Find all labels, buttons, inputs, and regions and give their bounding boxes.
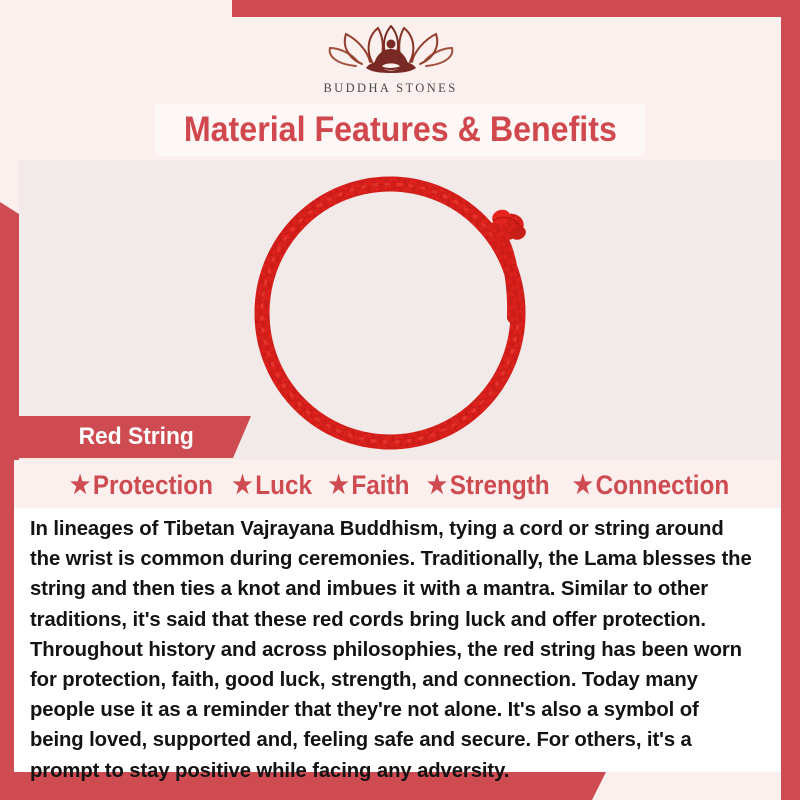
benefit-item-connection: ★ Connection: [573, 470, 730, 501]
star-icon: ★: [233, 473, 253, 498]
star-icon: ★: [427, 473, 447, 498]
lotus-meditation-icon: [316, 22, 466, 78]
product-name-label: Red String: [23, 423, 193, 451]
benefit-label: Faith: [351, 470, 409, 501]
brand-logo: BUDDHA STONES: [0, 17, 781, 96]
benefit-label: Strength: [450, 470, 550, 501]
page-title-band: Material Features & Benefits: [155, 104, 645, 156]
benefit-item-faith: ★ Faith: [328, 470, 409, 501]
red-string-bracelet-image: [235, 165, 565, 455]
product-name-ribbon: Red String: [19, 416, 251, 458]
benefits-row: ★ Protection ★ Luck ★ Faith ★ Strength ★…: [19, 462, 781, 508]
decor-right-strip: [781, 0, 800, 800]
star-icon: ★: [328, 473, 348, 498]
decor-left-strip-upper: [0, 202, 19, 460]
description-block: In lineages of Tibetan Vajrayana Buddhis…: [14, 508, 781, 772]
star-icon: ★: [70, 473, 90, 498]
benefit-label: Luck: [255, 470, 312, 501]
benefit-item-luck: ★ Luck: [233, 470, 313, 501]
benefit-label: Connection: [595, 470, 729, 501]
product-image-stage: [19, 160, 781, 460]
benefit-item-strength: ★ Strength: [427, 470, 550, 501]
page-title: Material Features & Benefits: [183, 110, 616, 150]
decor-left-strip-lower: [0, 460, 14, 800]
benefit-item-protection: ★ Protection: [70, 470, 213, 501]
decor-top-bar: [232, 0, 800, 17]
description-text: In lineages of Tibetan Vajrayana Buddhis…: [30, 514, 754, 786]
infographic-page: BUDDHA STONES Material Features & Benefi…: [0, 0, 800, 800]
benefit-label: Protection: [93, 470, 213, 501]
star-icon: ★: [573, 473, 593, 498]
brand-wordmark: BUDDHA STONES: [323, 81, 457, 96]
